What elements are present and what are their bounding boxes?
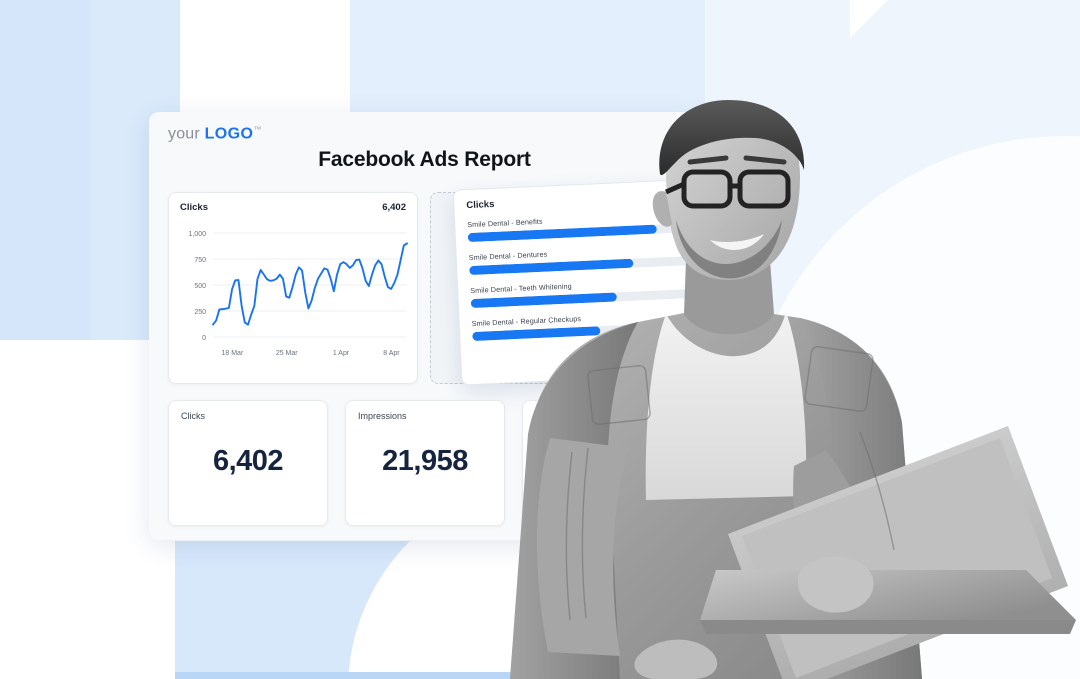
trademark-icon: ™ bbox=[253, 125, 261, 134]
line-chart-svg: 02505007501,00018 Mar25 Mar1 Apr8 Apr bbox=[169, 221, 419, 381]
chart-y-tick-label: 250 bbox=[194, 309, 206, 316]
brand-logo: your LOGO™ bbox=[168, 125, 262, 143]
chart-y-tick-label: 750 bbox=[194, 257, 206, 264]
metric-card-clicks[interactable]: Clicks 6,402 bbox=[168, 400, 328, 526]
background-white-block-top bbox=[180, 0, 350, 118]
chart-x-tick-label: 18 Mar bbox=[222, 350, 244, 357]
logo-prefix: your bbox=[168, 125, 200, 142]
chart-y-tick-label: 500 bbox=[194, 283, 206, 290]
line-card-value: 6,402 bbox=[382, 202, 406, 213]
line-card-label: Clicks bbox=[180, 202, 208, 213]
chart-y-tick-label: 0 bbox=[202, 335, 206, 342]
line-chart-plot: 02505007501,00018 Mar25 Mar1 Apr8 Apr bbox=[169, 221, 419, 381]
chart-x-tick-label: 8 Apr bbox=[383, 350, 400, 357]
chart-y-tick-label: 1,000 bbox=[188, 231, 206, 238]
line-card-header: Clicks 6,402 bbox=[180, 202, 406, 213]
laptop-base bbox=[700, 570, 1076, 620]
metric-value: 6,402 bbox=[169, 445, 327, 478]
chart-x-tick-label: 25 Mar bbox=[276, 350, 298, 357]
page-root: your LOGO™ Facebook Ads Report Clicks 6,… bbox=[0, 0, 1080, 679]
logo-wordmark: LOGO bbox=[205, 125, 254, 142]
chart-series-line bbox=[213, 243, 407, 324]
clicks-line-chart-card[interactable]: Clicks 6,402 02505007501,00018 Mar25 Mar… bbox=[168, 192, 418, 384]
laptop-base-edge bbox=[700, 620, 1076, 634]
metric-label: Clicks bbox=[181, 411, 205, 421]
metric-label: Impressions bbox=[358, 411, 407, 421]
man-with-laptop-photo bbox=[470, 100, 1080, 679]
chart-x-tick-label: 1 Apr bbox=[333, 350, 350, 357]
